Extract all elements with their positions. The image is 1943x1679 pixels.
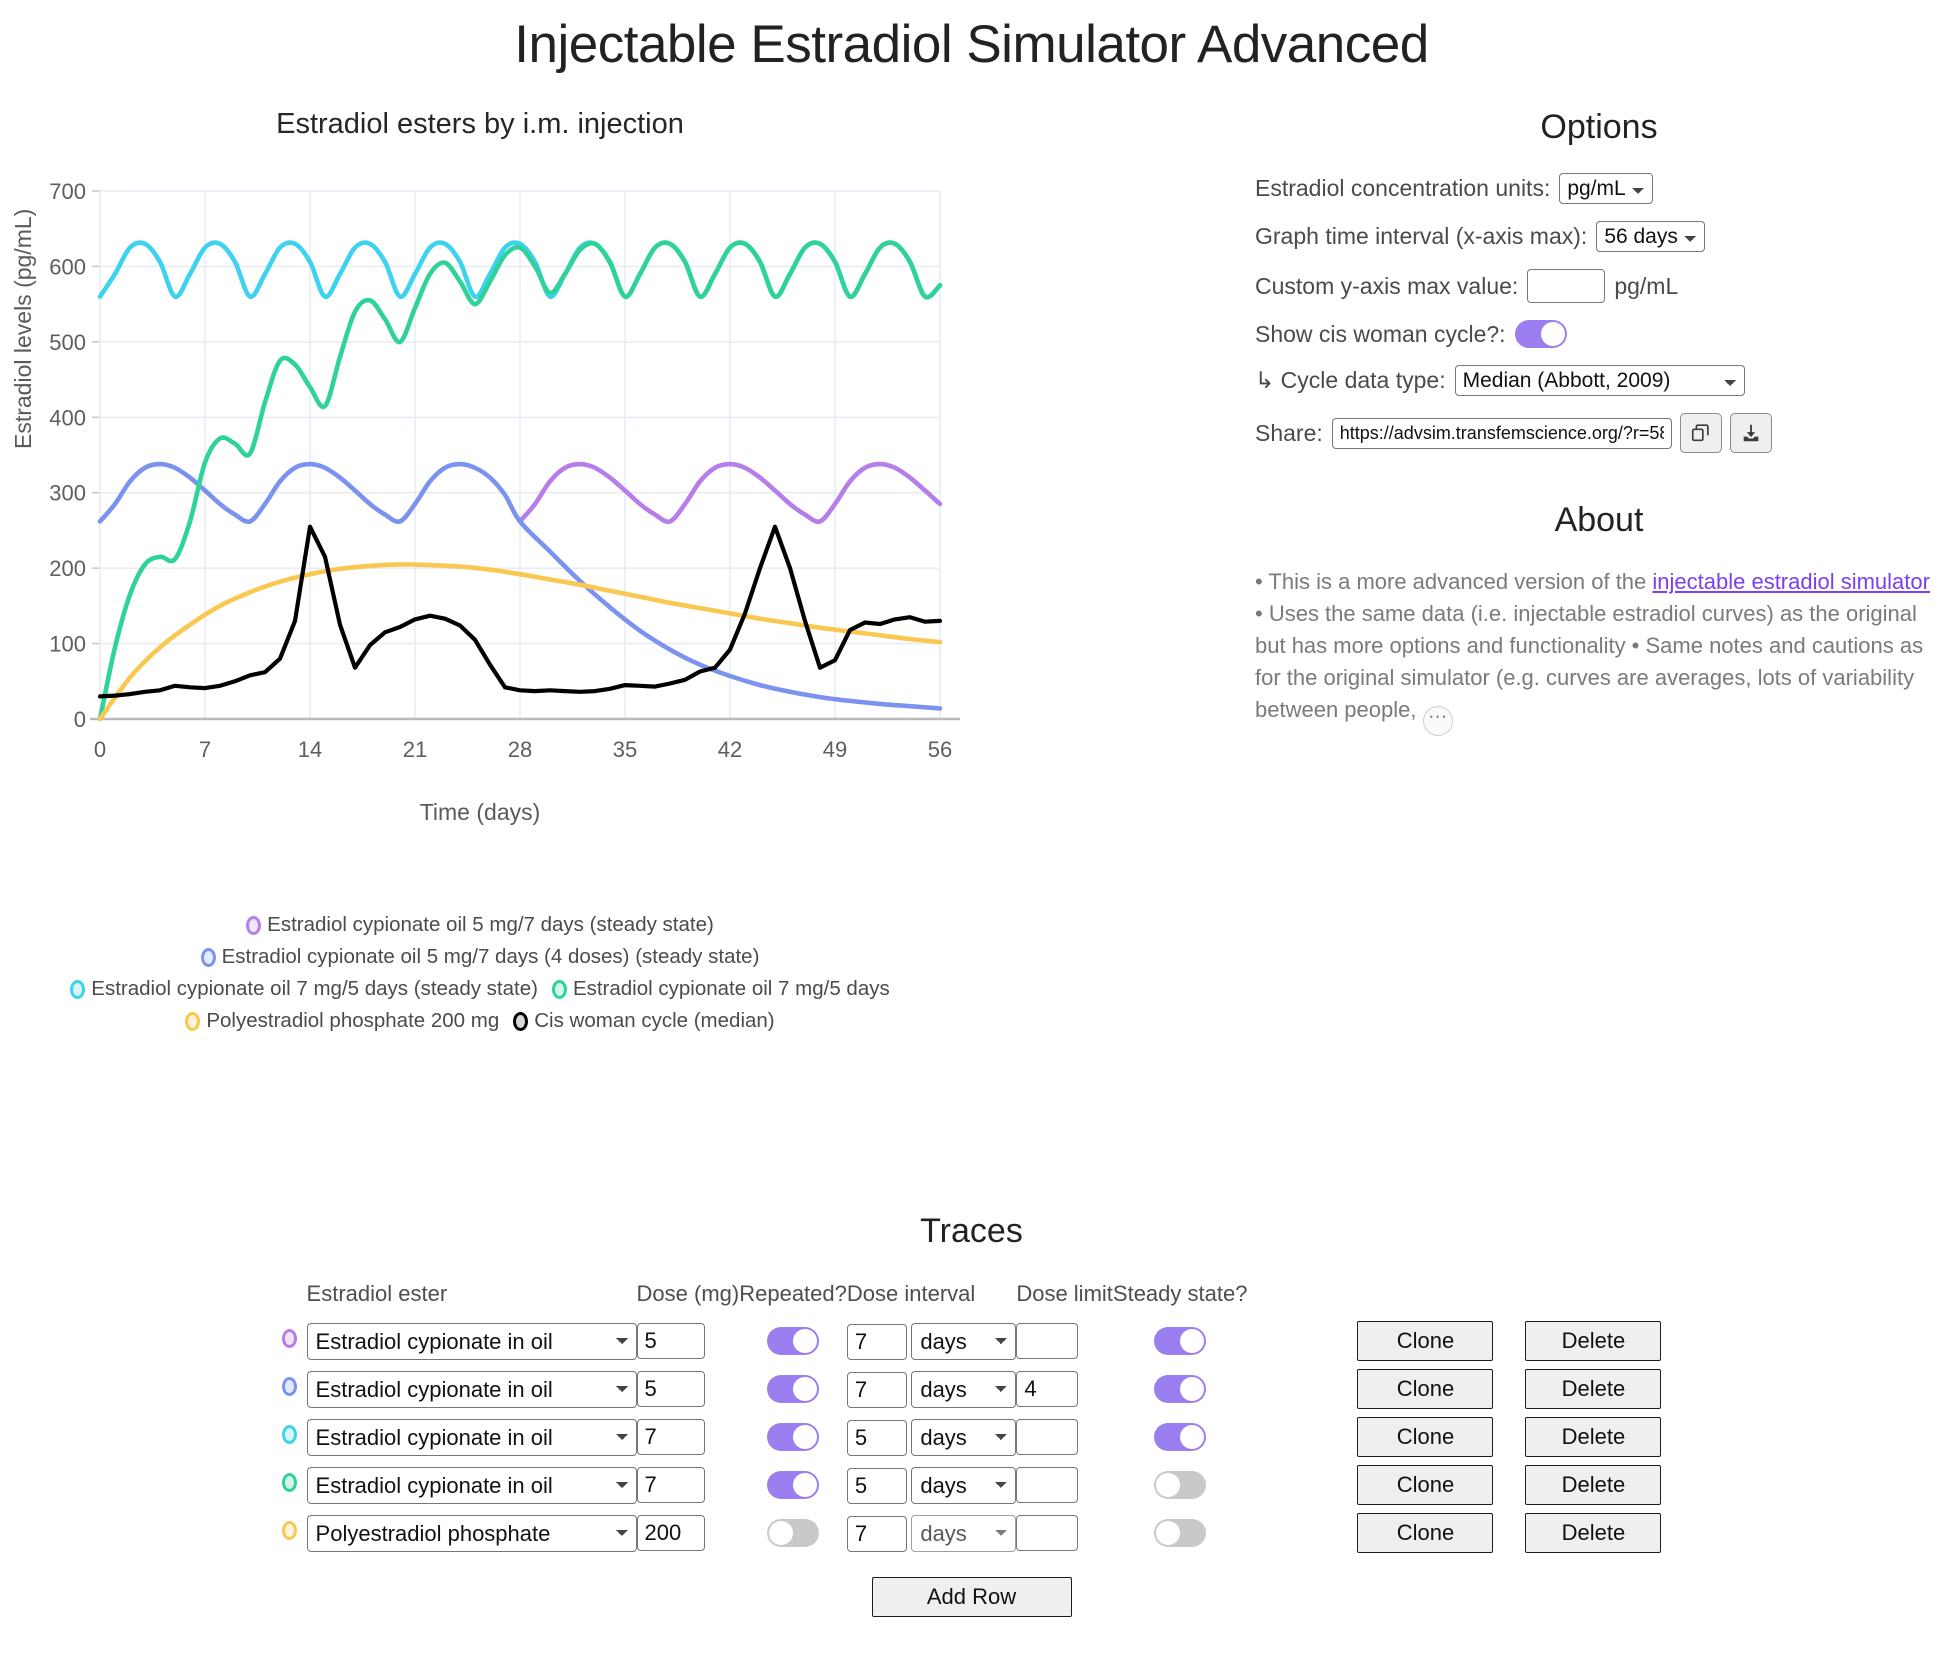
options-panel: Options Estradiol concentration units: p… xyxy=(1255,108,1943,736)
cycle-type-row: ↳ Cycle data type: Median (Abbott, 2009) xyxy=(1255,365,1943,396)
repeated-toggle-3[interactable] xyxy=(767,1471,819,1499)
interval-unit-select-0[interactable]: days xyxy=(911,1323,1016,1360)
dose-input-1[interactable] xyxy=(637,1371,705,1407)
trace-color-cell xyxy=(282,1317,307,1365)
delete-cell: Delete xyxy=(1493,1509,1661,1557)
legend-swatch-icon xyxy=(513,1012,528,1031)
time-interval-select[interactable]: 56 days xyxy=(1596,221,1705,252)
interval-unit-select-1[interactable]: days xyxy=(911,1371,1016,1408)
units-label: Estradiol concentration units: xyxy=(1255,175,1550,202)
repeated-toggle-4[interactable] xyxy=(767,1519,819,1547)
trace-color-cell xyxy=(282,1365,307,1413)
th-repeated: Repeated? xyxy=(739,1281,847,1317)
delete-cell: Delete xyxy=(1493,1365,1661,1413)
chart-panel: Estradiol esters by i.m. injection Estra… xyxy=(0,108,1200,809)
custom-ymax-row: Custom y-axis max value: pg/mL xyxy=(1255,269,1943,303)
legend-row: Estradiol cypionate oil 5 mg/7 days (4 d… xyxy=(0,940,960,972)
ester-select-1[interactable]: Estradiol cypionate in oil xyxy=(307,1371,637,1408)
ester-select-2[interactable]: Estradiol cypionate in oil xyxy=(307,1419,637,1456)
clone-button-1[interactable]: Clone xyxy=(1357,1369,1493,1409)
dose-cell xyxy=(637,1365,740,1413)
table-row: Polyestradiol phosphate daysCloneDelete xyxy=(282,1509,1662,1557)
svg-text:49: 49 xyxy=(823,737,847,762)
delete-button-0[interactable]: Delete xyxy=(1525,1321,1661,1361)
dose-input-2[interactable] xyxy=(637,1419,705,1455)
legend-swatch-icon xyxy=(201,948,216,967)
trace-color-cell xyxy=(282,1413,307,1461)
time-interval-row: Graph time interval (x-axis max): 56 day… xyxy=(1255,221,1943,252)
plot-area: Estradiol levels (pg/mL) 010020030040050… xyxy=(0,149,1000,809)
delete-cell: Delete xyxy=(1493,1413,1661,1461)
clone-button-2[interactable]: Clone xyxy=(1357,1417,1493,1457)
svg-text:400: 400 xyxy=(49,405,86,430)
clone-button-0[interactable]: Clone xyxy=(1357,1321,1493,1361)
delete-button-1[interactable]: Delete xyxy=(1525,1369,1661,1409)
steady-cell xyxy=(1113,1461,1248,1509)
interval-input-4[interactable] xyxy=(847,1516,907,1552)
repeated-cell xyxy=(739,1413,847,1461)
legend-item[interactable]: Estradiol cypionate oil 5 mg/7 days (4 d… xyxy=(201,941,760,972)
share-url-input[interactable] xyxy=(1332,418,1672,449)
legend-item[interactable]: Estradiol cypionate oil 7 mg/5 days (ste… xyxy=(70,973,538,1004)
trace-color-icon xyxy=(282,1473,297,1492)
interval-input-0[interactable] xyxy=(847,1324,907,1360)
ester-cell: Estradiol cypionate in oil xyxy=(307,1461,637,1509)
custom-ymax-input[interactable] xyxy=(1527,269,1605,303)
interval-input-2[interactable] xyxy=(847,1420,907,1456)
limit-cell xyxy=(1016,1317,1113,1365)
custom-ymax-suffix: pg/mL xyxy=(1614,273,1678,300)
interval-input-3[interactable] xyxy=(847,1468,907,1504)
clone-cell: Clone xyxy=(1247,1413,1493,1461)
th-actions2 xyxy=(1493,1281,1661,1317)
repeated-cell xyxy=(739,1509,847,1557)
repeated-toggle-1[interactable] xyxy=(767,1375,819,1403)
about-text-2: • Uses the same data (i.e. injectable es… xyxy=(1255,601,1923,722)
share-label: Share: xyxy=(1255,420,1323,447)
svg-text:200: 200 xyxy=(49,556,86,581)
delete-cell: Delete xyxy=(1493,1317,1661,1365)
ester-select-0[interactable]: Estradiol cypionate in oil xyxy=(307,1323,637,1360)
steady-cell xyxy=(1113,1509,1248,1557)
svg-text:28: 28 xyxy=(508,737,532,762)
svg-text:500: 500 xyxy=(49,330,86,355)
legend-item[interactable]: Cis woman cycle (median) xyxy=(513,1005,774,1036)
interval-cell: days xyxy=(847,1365,1016,1413)
repeated-toggle-0[interactable] xyxy=(767,1327,819,1355)
delete-button-4[interactable]: Delete xyxy=(1525,1513,1661,1553)
trace-color-icon xyxy=(282,1425,297,1444)
ester-cell: Estradiol cypionate in oil xyxy=(307,1413,637,1461)
repeated-cell xyxy=(739,1461,847,1509)
steady-state-toggle-0[interactable] xyxy=(1154,1327,1206,1355)
ester-select-3[interactable]: Estradiol cypionate in oil xyxy=(307,1467,637,1504)
delete-button-2[interactable]: Delete xyxy=(1525,1417,1661,1457)
table-row: Estradiol cypionate in oil daysCloneDele… xyxy=(282,1461,1662,1509)
show-cycle-toggle[interactable] xyxy=(1515,320,1567,348)
th-actions xyxy=(1247,1281,1493,1317)
trace-color-icon xyxy=(282,1377,297,1396)
legend-swatch-icon xyxy=(70,980,85,999)
svg-text:56: 56 xyxy=(928,737,952,762)
th-swatch xyxy=(282,1281,307,1317)
dose-cell xyxy=(637,1317,740,1365)
cycle-type-select[interactable]: Median (Abbott, 2009) xyxy=(1455,365,1745,396)
th-dose: Dose (mg) xyxy=(637,1281,740,1317)
legend-label: Estradiol cypionate oil 5 mg/7 days (ste… xyxy=(267,913,714,936)
legend-item[interactable]: Estradiol cypionate oil 5 mg/7 days (ste… xyxy=(246,909,714,940)
delete-cell: Delete xyxy=(1493,1461,1661,1509)
repeated-cell xyxy=(739,1365,847,1413)
table-row: Estradiol cypionate in oil daysCloneDele… xyxy=(282,1365,1662,1413)
legend-label: Estradiol cypionate oil 7 mg/5 days (ste… xyxy=(91,977,538,1000)
legend-row: Estradiol cypionate oil 5 mg/7 days (ste… xyxy=(0,908,960,940)
interval-unit-select-2[interactable]: days xyxy=(911,1419,1016,1456)
clone-button-3[interactable]: Clone xyxy=(1357,1465,1493,1505)
svg-text:14: 14 xyxy=(298,737,322,762)
svg-text:300: 300 xyxy=(49,481,86,506)
trace-color-icon xyxy=(282,1521,297,1540)
dose-cell xyxy=(637,1461,740,1509)
repeated-toggle-2[interactable] xyxy=(767,1423,819,1451)
app-root: Injectable Estradiol Simulator Advanced … xyxy=(0,0,1943,1679)
ester-select-4[interactable]: Polyestradiol phosphate xyxy=(307,1515,637,1552)
interval-input-1[interactable] xyxy=(847,1372,907,1408)
chart-title: Estradiol esters by i.m. injection xyxy=(0,108,960,141)
about-text-1: • This is a more advanced version of the xyxy=(1255,569,1652,594)
limit-cell xyxy=(1016,1365,1113,1413)
interval-unit-select-3[interactable]: days xyxy=(911,1467,1016,1504)
svg-text:600: 600 xyxy=(49,254,86,279)
legend-label: Cis woman cycle (median) xyxy=(534,1009,774,1032)
copy-icon[interactable] xyxy=(1680,413,1722,453)
steady-state-toggle-2[interactable] xyxy=(1154,1423,1206,1451)
x-axis-label: Time (days) xyxy=(0,799,960,826)
download-icon[interactable] xyxy=(1730,413,1772,453)
legend-item[interactable]: Estradiol cypionate oil 7 mg/5 days xyxy=(552,973,890,1004)
show-cycle-row: Show cis woman cycle?: xyxy=(1255,320,1943,348)
legend-row: Estradiol cypionate oil 7 mg/5 days (ste… xyxy=(0,972,960,1004)
ester-cell: Estradiol cypionate in oil xyxy=(307,1317,637,1365)
custom-ymax-label: Custom y-axis max value: xyxy=(1255,273,1518,300)
limit-cell xyxy=(1016,1461,1113,1509)
dose-input-0[interactable] xyxy=(637,1323,705,1359)
trace-color-cell xyxy=(282,1509,307,1557)
th-steady: Steady state? xyxy=(1113,1281,1248,1317)
clone-cell: Clone xyxy=(1247,1365,1493,1413)
dose-limit-input-1[interactable] xyxy=(1016,1371,1078,1407)
ester-cell: Estradiol cypionate in oil xyxy=(307,1365,637,1413)
limit-cell xyxy=(1016,1413,1113,1461)
svg-text:21: 21 xyxy=(403,737,427,762)
dose-limit-input-0[interactable] xyxy=(1016,1323,1078,1359)
legend-label: Polyestradiol phosphate 200 mg xyxy=(206,1009,499,1032)
trace-color-cell xyxy=(282,1461,307,1509)
add-row-wrap: Add Row xyxy=(0,1577,1943,1617)
th-limit: Dose limit xyxy=(1016,1281,1113,1317)
interval-unit-select-4[interactable]: days xyxy=(911,1515,1016,1552)
svg-text:35: 35 xyxy=(613,737,637,762)
dose-cell xyxy=(637,1413,740,1461)
share-row: Share: xyxy=(1255,413,1943,453)
legend-label: Estradiol cypionate oil 5 mg/7 days (4 d… xyxy=(222,945,760,968)
legend-label: Estradiol cypionate oil 7 mg/5 days xyxy=(573,977,890,1000)
delete-button-3[interactable]: Delete xyxy=(1525,1465,1661,1505)
clone-cell: Clone xyxy=(1247,1509,1493,1557)
legend-swatch-icon xyxy=(246,916,261,935)
dose-input-4[interactable] xyxy=(637,1515,705,1551)
steady-state-toggle-4[interactable] xyxy=(1154,1519,1206,1547)
interval-cell: days xyxy=(847,1509,1016,1557)
cycle-type-label: ↳ Cycle data type: xyxy=(1255,367,1446,394)
units-select[interactable]: pg/mL xyxy=(1559,173,1653,204)
legend-row: Polyestradiol phosphate 200 mgCis woman … xyxy=(0,1004,960,1036)
steady-cell xyxy=(1113,1317,1248,1365)
legend-swatch-icon xyxy=(185,1012,200,1031)
limit-cell xyxy=(1016,1509,1113,1557)
svg-text:100: 100 xyxy=(49,632,86,657)
chart-legend: Estradiol cypionate oil 5 mg/7 days (ste… xyxy=(0,908,960,1037)
table-row: Estradiol cypionate in oil daysCloneDele… xyxy=(282,1413,1662,1461)
legend-swatch-icon xyxy=(552,980,567,999)
about-heading: About xyxy=(1255,501,1943,540)
traces-heading: Traces xyxy=(0,1212,1943,1251)
time-interval-label: Graph time interval (x-axis max): xyxy=(1255,223,1587,250)
about-expand-icon[interactable]: ⋯ xyxy=(1423,706,1453,736)
traces-panel: Traces Estradiol ester Dose (mg) Repeate… xyxy=(0,1212,1943,1617)
interval-cell: days xyxy=(847,1413,1016,1461)
clone-cell: Clone xyxy=(1247,1317,1493,1365)
clone-cell: Clone xyxy=(1247,1461,1493,1509)
th-ester: Estradiol ester xyxy=(307,1281,637,1317)
dose-limit-input-2[interactable] xyxy=(1016,1419,1078,1455)
dose-limit-input-3[interactable] xyxy=(1016,1467,1078,1503)
show-cycle-label: Show cis woman cycle?: xyxy=(1255,321,1506,348)
line-chart: 01002003004005006007000714212835424956 xyxy=(0,149,960,789)
steady-cell xyxy=(1113,1365,1248,1413)
legend-item[interactable]: Polyestradiol phosphate 200 mg xyxy=(185,1005,499,1036)
interval-cell: days xyxy=(847,1317,1016,1365)
page-title: Injectable Estradiol Simulator Advanced xyxy=(0,0,1943,75)
svg-text:0: 0 xyxy=(94,737,106,762)
th-interval: Dose interval xyxy=(847,1281,1016,1317)
about-text: • This is a more advanced version of the… xyxy=(1255,566,1943,736)
steady-state-toggle-3[interactable] xyxy=(1154,1471,1206,1499)
dose-cell xyxy=(637,1509,740,1557)
injectable-simulator-link[interactable]: injectable estradiol simulator xyxy=(1652,569,1930,594)
trace-color-icon xyxy=(282,1329,297,1348)
dose-limit-input-4[interactable] xyxy=(1016,1515,1078,1551)
svg-text:0: 0 xyxy=(74,707,86,732)
options-heading: Options xyxy=(1255,108,1943,147)
svg-text:7: 7 xyxy=(199,737,211,762)
traces-table: Estradiol ester Dose (mg) Repeated? Dose… xyxy=(282,1281,1662,1557)
clone-button-4[interactable]: Clone xyxy=(1357,1513,1493,1553)
add-row-button[interactable]: Add Row xyxy=(872,1577,1072,1617)
ester-cell: Polyestradiol phosphate xyxy=(307,1509,637,1557)
steady-cell xyxy=(1113,1413,1248,1461)
svg-text:700: 700 xyxy=(49,179,86,204)
steady-state-toggle-1[interactable] xyxy=(1154,1375,1206,1403)
units-row: Estradiol concentration units: pg/mL xyxy=(1255,173,1943,204)
dose-input-3[interactable] xyxy=(637,1467,705,1503)
svg-text:42: 42 xyxy=(718,737,742,762)
table-row: Estradiol cypionate in oil daysCloneDele… xyxy=(282,1317,1662,1365)
repeated-cell xyxy=(739,1317,847,1365)
traces-header-row: Estradiol ester Dose (mg) Repeated? Dose… xyxy=(282,1281,1662,1317)
interval-cell: days xyxy=(847,1461,1016,1509)
